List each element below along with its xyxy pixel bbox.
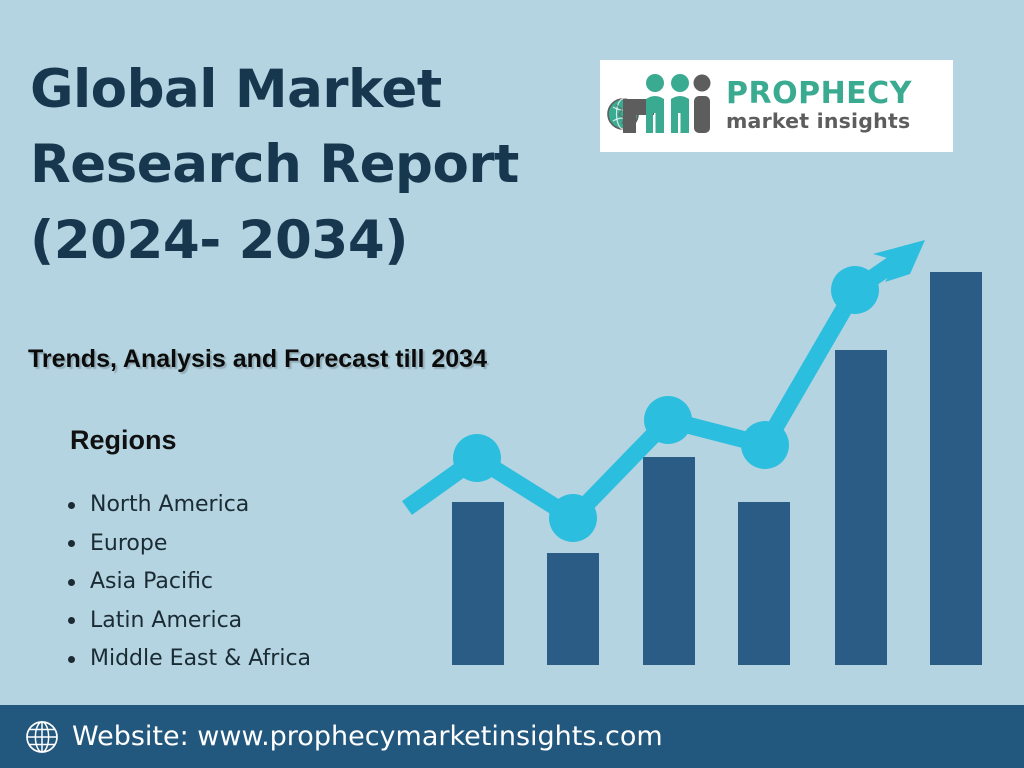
line-marker-1: [453, 434, 501, 482]
line-marker-5: [831, 266, 879, 314]
line-marker-3: [644, 396, 692, 444]
logo-wordmark: PROPHECY market insights: [722, 79, 947, 133]
list-item: Latin America: [90, 602, 311, 641]
bullet-icon: [68, 540, 75, 547]
bar-2: [547, 553, 599, 665]
region-label: Europe: [90, 531, 167, 556]
footer-bar: Website: www.prophecymarketinsights.com: [0, 705, 1024, 768]
logo-primary-word: PROPHECY: [726, 79, 947, 110]
bullet-icon: [68, 617, 75, 624]
poster-canvas: Global Market Research Report (2024- 203…: [0, 0, 1024, 768]
bullet-icon: [68, 656, 75, 663]
bar-6: [930, 272, 982, 665]
list-item: Europe: [90, 525, 311, 564]
region-label: Middle East & Africa: [90, 646, 311, 671]
growth-chart: [398, 228, 1008, 668]
logo-secondary-word: market insights: [726, 110, 947, 134]
website-label: Website: www.prophecymarketinsights.com: [72, 721, 663, 752]
bullet-icon: [68, 579, 75, 586]
list-item: Asia Pacific: [90, 563, 311, 602]
title-line-1: Global Market: [30, 52, 620, 127]
bar-1: [452, 502, 504, 665]
bar-3: [643, 457, 695, 665]
chart-bars: [452, 272, 982, 665]
regions-heading: Regions: [70, 425, 177, 456]
list-item: North America: [90, 486, 311, 525]
list-item: Middle East & Africa: [90, 640, 311, 679]
brand-logo: PROPHECY market insights: [600, 60, 953, 152]
globe-icon: [24, 719, 60, 755]
bar-4: [738, 502, 790, 665]
bar-5: [835, 350, 887, 665]
pmi-monogram-icon: [606, 69, 722, 143]
region-label: Asia Pacific: [90, 569, 213, 594]
regions-list: North America Europe Asia Pacific Latin …: [60, 486, 311, 679]
region-label: North America: [90, 492, 249, 517]
title-line-2: Research Report: [30, 127, 620, 202]
line-marker-4: [741, 421, 789, 469]
bullet-icon: [68, 502, 75, 509]
line-marker-2: [549, 494, 597, 542]
region-label: Latin America: [90, 608, 242, 633]
